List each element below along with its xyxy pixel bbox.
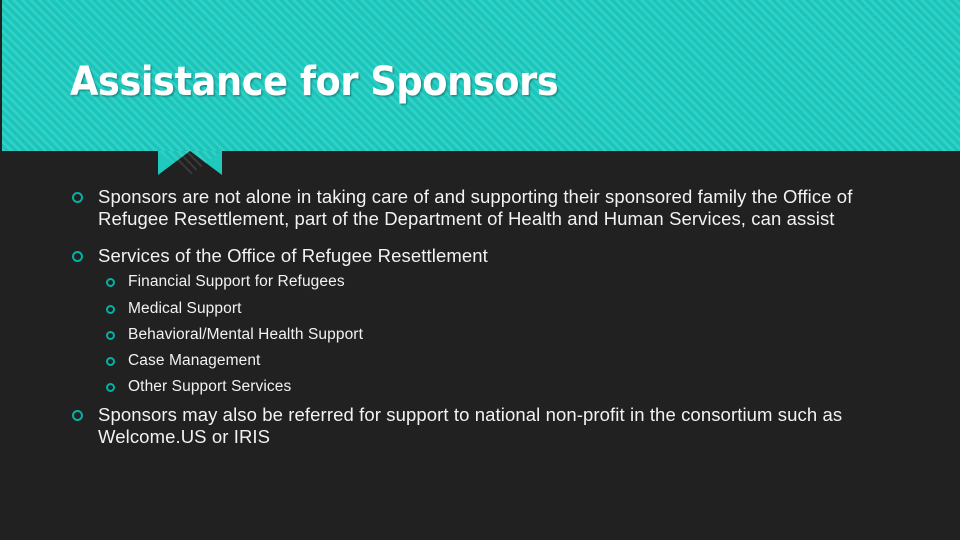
list-item-label: Financial Support for Refugees [128,273,345,292]
sub-bullet-ring-icon [106,278,115,287]
sub-bullet-ring-icon [106,305,115,314]
list-item-label: Medical Support [128,300,242,319]
bullet-ring-icon [72,192,83,203]
presentation-slide: Assistance for Sponsors Sponsors are not… [0,0,960,540]
list-item: Services of the Office of Refugee Resett… [0,245,960,267]
bullet-ring-icon [72,410,83,421]
list-item-label: Sponsors are not alone in taking care of… [98,186,858,230]
slide-body: Sponsors are not alone in taking care of… [0,186,960,455]
banner-notch-triangle [158,151,222,175]
list-item: Financial Support for Refugees [0,273,960,292]
page-title: Assistance for Sponsors [70,60,558,105]
list-item-label: Case Management [128,352,260,371]
list-item: Medical Support [0,300,960,319]
list-item-label: Services of the Office of Refugee Resett… [98,245,488,267]
sub-bullet-ring-icon [106,331,115,340]
sub-bullet-ring-icon [106,357,115,366]
list-item: Behavioral/Mental Health Support [0,326,960,345]
bullet-ring-icon [72,251,83,262]
list-item-label: Behavioral/Mental Health Support [128,326,363,345]
list-item: Sponsors are not alone in taking care of… [0,186,960,230]
list-item: Sponsors may also be referred for suppor… [0,404,960,448]
sub-bullet-ring-icon [106,383,115,392]
sub-list: Financial Support for Refugees Medical S… [0,273,960,396]
list-item-label: Sponsors may also be referred for suppor… [98,404,858,448]
list-item: Case Management [0,352,960,371]
list-item: Other Support Services [0,378,960,397]
list-item-label: Other Support Services [128,378,291,397]
